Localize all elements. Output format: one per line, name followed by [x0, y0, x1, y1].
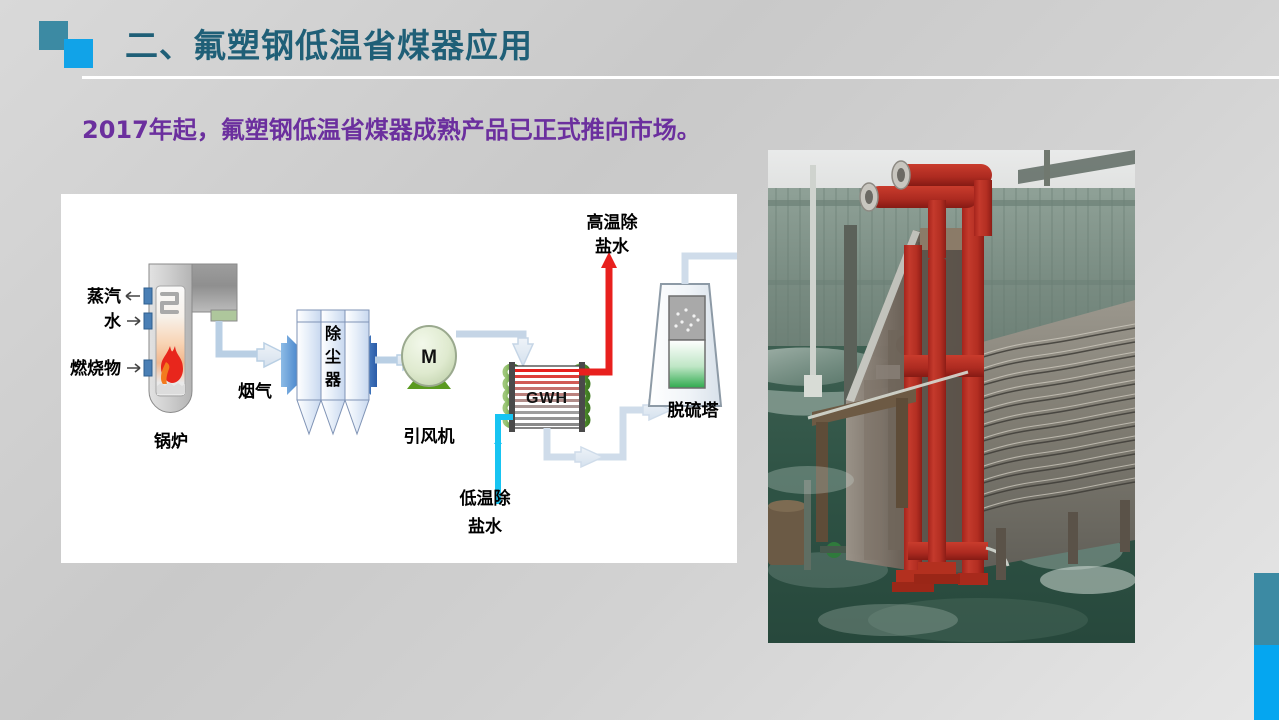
subtitle-text: 2017年起，氟塑钢低温省煤器成熟产品已正式推向市场。 — [82, 110, 701, 145]
gwh-heat-exchanger-group: GWH — [505, 362, 588, 432]
steam-nozzle — [144, 288, 152, 304]
flue-gas-duct-1 — [219, 321, 288, 367]
process-diagram-panel: M — [61, 194, 737, 563]
label-fan: 引风机 — [404, 426, 455, 447]
label-hot-water-2: 盐水 — [595, 236, 630, 257]
flue-gas-duct-3 — [456, 334, 533, 366]
label-cold-water-1: 低温除 — [459, 488, 512, 509]
label-cold-water-2: 盐水 — [468, 516, 503, 537]
svg-text:M: M — [421, 347, 437, 368]
label-boiler: 锅炉 — [154, 431, 188, 452]
site-photo — [768, 150, 1135, 643]
red-frame-right — [962, 178, 984, 578]
svg-text:GWH: GWH — [526, 390, 568, 407]
page-title: 二、氟塑钢低温省煤器应用 — [125, 19, 533, 67]
label-flue-gas: 烟气 — [238, 381, 272, 402]
decoration-square-light — [64, 39, 93, 68]
title-divider — [82, 76, 1279, 79]
induced-draft-fan-group: M — [402, 326, 456, 389]
label-dust-2: 尘 — [325, 347, 341, 366]
label-dust-3: 器 — [324, 370, 342, 389]
label-hot-water-1: 高温除 — [587, 212, 639, 233]
water-nozzle — [144, 313, 152, 329]
red-cross-beam-lower — [908, 542, 988, 560]
hot-demin-water-line — [579, 252, 617, 372]
label-tower: 脱硫塔 — [668, 400, 720, 421]
label-water: 水 — [104, 311, 122, 332]
fuel-nozzle — [144, 360, 152, 376]
label-steam: 蒸汽 — [87, 286, 121, 307]
process-flow-diagram: M — [61, 194, 737, 563]
economizer-photo-illustration — [768, 150, 1135, 643]
coil-bundle — [964, 300, 1135, 570]
label-dust-1: 除 — [325, 324, 342, 343]
accent-bar-top — [1254, 573, 1279, 645]
label-fuel: 燃烧物 — [70, 358, 121, 379]
slide-root: 二、氟塑钢低温省煤器应用 2017年起，氟塑钢低温省煤器成熟产品已正式推向市场。 — [0, 0, 1279, 720]
accent-bar-bottom — [1254, 645, 1279, 720]
desulfurization-tower-group — [649, 256, 737, 406]
